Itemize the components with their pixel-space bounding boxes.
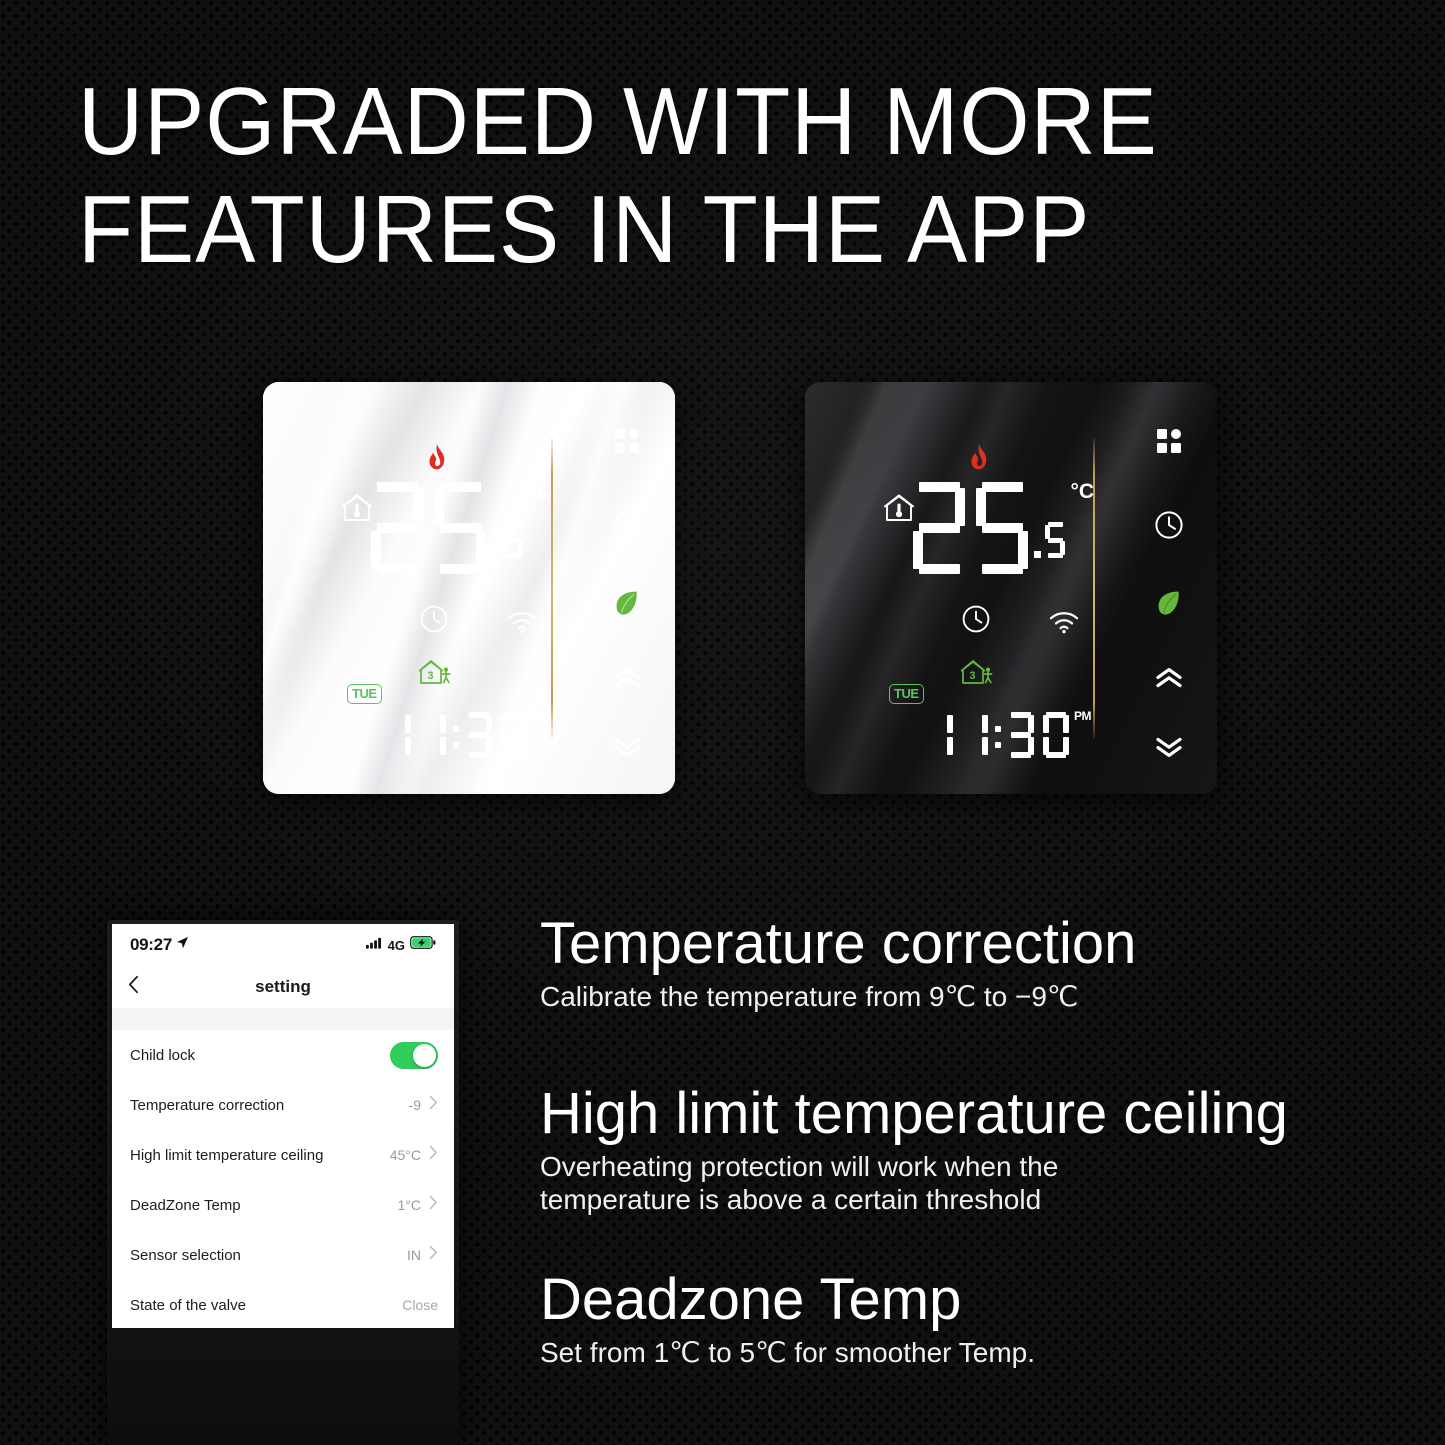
feature-title: Deadzone Temp xyxy=(540,1268,1035,1332)
feature-deadzone-temp: Deadzone Temp Set from 1℃ to 5℃ for smoo… xyxy=(540,1268,1035,1369)
page-title-setting: setting xyxy=(112,977,454,997)
leaf-icon[interactable] xyxy=(1157,590,1181,616)
leaf-icon[interactable] xyxy=(615,590,639,616)
feature-body-line-1: Overheating protection will work when th… xyxy=(540,1150,1288,1183)
phone-screen: 09:27 xyxy=(112,924,454,1328)
decimal-point xyxy=(492,551,499,558)
house-person-number: 3 xyxy=(427,670,433,682)
phone-mockup: 09:27 xyxy=(107,920,459,1445)
row-label: DeadZone Temp xyxy=(130,1197,241,1214)
house-thermometer-icon xyxy=(883,493,915,523)
segment-e xyxy=(1043,737,1049,755)
segment-b xyxy=(521,715,527,733)
list-item[interactable]: DeadZone Temp 1°C xyxy=(112,1180,454,1230)
weekday-badge: TUE xyxy=(347,685,382,703)
poster-canvas: UPGRADED WITH MORE FEATURES IN THE APP xyxy=(0,0,1445,1445)
temp-digit-2 xyxy=(434,482,486,574)
segment-e xyxy=(913,531,923,569)
status-time: 09:27 xyxy=(130,935,172,955)
headline-line-1: UPGRADED WITH MORE xyxy=(78,68,1187,176)
white-touch-rail xyxy=(599,382,655,794)
temp-digit-2 xyxy=(976,482,1028,574)
white-thermostat: °C xyxy=(263,382,675,794)
white-thermostat-face: °C xyxy=(263,382,675,794)
chevron-down-icon[interactable] xyxy=(1154,737,1184,757)
temperature-unit: °C xyxy=(1070,481,1094,502)
segment-d xyxy=(440,564,481,574)
feature-temperature-correction: Temperature correction Calibrate the tem… xyxy=(540,912,1136,1013)
segment-d xyxy=(1046,752,1065,758)
black-touch-rail xyxy=(1141,382,1197,794)
colon-dot-1 xyxy=(995,726,1001,732)
weekday-badge-label: TUE xyxy=(347,684,382,704)
settings-list: Child lock Temperature correction -9 xyxy=(112,1030,454,1328)
temperature-unit: °C xyxy=(528,481,552,502)
segment-f xyxy=(1045,525,1050,539)
grid-icon[interactable] xyxy=(1156,428,1182,454)
segment-a xyxy=(919,482,960,492)
row-label: Sensor selection xyxy=(130,1247,241,1264)
time-digit-3 xyxy=(1008,712,1034,758)
flame-icon xyxy=(968,444,990,474)
clock-icon[interactable] xyxy=(612,510,642,540)
time-meridiem: PM xyxy=(532,710,549,722)
segment-d xyxy=(504,752,523,758)
wifi-icon xyxy=(1048,610,1080,634)
segment-b xyxy=(982,715,988,733)
grid-icon[interactable] xyxy=(614,428,640,454)
nav-bar: setting xyxy=(112,966,454,1008)
status-bar: 09:27 xyxy=(112,924,454,966)
feature-body: Set from 1℃ to 5℃ for smoother Temp. xyxy=(540,1336,1035,1369)
time-digit-4 xyxy=(1043,712,1069,758)
signal-bars-icon xyxy=(366,936,383,954)
flame-icon xyxy=(426,444,448,474)
temp-decimal-dot xyxy=(492,522,499,558)
segment-a xyxy=(506,522,521,527)
time-meridiem: PM xyxy=(1074,710,1091,722)
segment-a xyxy=(1048,522,1063,527)
segment-b xyxy=(947,715,953,733)
back-button[interactable] xyxy=(128,975,139,999)
clock-small-icon xyxy=(419,604,449,634)
chevron-up-icon[interactable] xyxy=(1154,668,1184,688)
child-lock-toggle[interactable] xyxy=(390,1042,438,1069)
house-person-icon: 3 xyxy=(960,658,994,686)
row-value: 1°C xyxy=(398,1197,422,1213)
feature-title: Temperature correction xyxy=(540,912,1136,976)
row-label: High limit temperature ceiling xyxy=(130,1147,323,1164)
list-item[interactable]: Sensor selection IN xyxy=(112,1230,454,1280)
house-person-icon: 3 xyxy=(418,658,452,686)
gold-divider xyxy=(551,438,553,738)
row-label: Temperature correction xyxy=(130,1097,284,1114)
temp-decimal-dot xyxy=(1034,522,1041,558)
segment-d xyxy=(919,564,960,574)
house-thermometer-icon xyxy=(341,493,373,523)
segment-g xyxy=(1048,538,1063,543)
time-digit-1 xyxy=(385,712,411,758)
segment-g xyxy=(982,523,1023,533)
segment-d xyxy=(982,564,1023,574)
chevron-right-icon xyxy=(429,1095,438,1115)
black-temperature-display: °C xyxy=(913,482,1094,574)
segment-d xyxy=(1048,553,1063,558)
battery-charging-icon xyxy=(410,936,436,954)
chevron-right-icon xyxy=(429,1145,438,1165)
segment-f xyxy=(503,525,508,539)
white-temperature-display: °C xyxy=(371,482,552,574)
temp-decimal-digit xyxy=(503,522,523,558)
feature-body-line-2: temperature is above a certain threshold xyxy=(540,1183,1288,1216)
segment-f xyxy=(976,488,986,526)
segment-g xyxy=(1011,732,1030,738)
feature-high-limit-ceiling: High limit temperature ceiling Overheati… xyxy=(540,1082,1288,1216)
gold-divider xyxy=(1093,438,1095,738)
row-value: -9 xyxy=(409,1097,421,1113)
row-value: 45°C xyxy=(390,1147,421,1163)
segment-b xyxy=(440,715,446,733)
weekday-badge-label: TUE xyxy=(889,684,924,704)
black-thermostat: °C xyxy=(805,382,1217,794)
segment-b xyxy=(955,488,965,526)
segment-f xyxy=(434,488,444,526)
segment-d xyxy=(377,564,418,574)
segment-e xyxy=(501,737,507,755)
clock-icon[interactable] xyxy=(1154,510,1184,540)
segment-b xyxy=(405,715,411,733)
segment-e xyxy=(371,531,381,569)
location-arrow-icon xyxy=(176,936,189,954)
time-digit-2 xyxy=(962,712,988,758)
segment-g xyxy=(919,523,960,533)
time-colon xyxy=(453,712,459,758)
weekday-badge: TUE xyxy=(889,685,924,703)
segment-c xyxy=(982,737,988,755)
colon-dot-2 xyxy=(995,742,1001,748)
row-label: State of the valve xyxy=(130,1297,246,1314)
colon-dot-1 xyxy=(453,726,459,732)
segment-c xyxy=(1018,531,1028,569)
segment-b xyxy=(486,715,492,733)
list-item[interactable]: State of the valve Close xyxy=(112,1280,454,1328)
network-label: 4G xyxy=(388,938,405,953)
segment-g xyxy=(377,523,418,533)
section-gap xyxy=(112,1008,454,1030)
segment-a xyxy=(440,482,481,492)
segment-g xyxy=(440,523,481,533)
black-clock-display: PM xyxy=(927,712,1091,758)
temp-digit-1 xyxy=(913,482,965,574)
black-thermostat-face: °C xyxy=(805,382,1217,794)
feature-body: Calibrate the temperature from 9℃ to −9℃ xyxy=(540,980,1136,1013)
list-item[interactable]: Temperature correction -9 xyxy=(112,1080,454,1130)
colon-dot-2 xyxy=(453,742,459,748)
segment-f xyxy=(1043,715,1049,733)
wifi-icon xyxy=(506,610,538,634)
white-clock-display: PM xyxy=(385,712,549,758)
chevron-right-icon xyxy=(429,1245,438,1265)
list-item[interactable]: High limit temperature ceiling 45°C xyxy=(112,1130,454,1180)
time-digit-4 xyxy=(501,712,527,758)
segment-a xyxy=(982,482,1023,492)
temp-decimal-digit xyxy=(1045,522,1065,558)
segment-f xyxy=(501,715,507,733)
segment-a xyxy=(377,482,418,492)
time-digit-1 xyxy=(927,712,953,758)
row-value: IN xyxy=(407,1247,421,1263)
page-title: UPGRADED WITH MORE FEATURES IN THE APP xyxy=(78,68,1187,284)
segment-g xyxy=(506,538,521,543)
row-label: Child lock xyxy=(130,1047,195,1064)
segment-g xyxy=(469,732,488,738)
time-digit-3 xyxy=(466,712,492,758)
segment-c xyxy=(440,737,446,755)
segment-c xyxy=(405,737,411,755)
row-value: Close xyxy=(402,1297,438,1313)
toggle-knob xyxy=(413,1044,436,1067)
segment-d xyxy=(469,752,488,758)
chevron-up-icon[interactable] xyxy=(612,668,642,688)
list-item[interactable]: Child lock xyxy=(112,1030,454,1080)
temp-digit-1 xyxy=(371,482,423,574)
segment-d xyxy=(1011,752,1030,758)
clock-small-icon xyxy=(961,604,991,634)
chevron-right-icon xyxy=(429,1195,438,1215)
segment-b xyxy=(1028,715,1034,733)
segment-b xyxy=(413,488,423,526)
time-colon xyxy=(995,712,1001,758)
house-person-number: 3 xyxy=(969,670,975,682)
chevron-down-icon[interactable] xyxy=(612,737,642,757)
headline-line-2: FEATURES IN THE APP xyxy=(78,176,1187,284)
time-digit-2 xyxy=(420,712,446,758)
segment-c xyxy=(947,737,953,755)
segment-b xyxy=(1063,715,1069,733)
decimal-point xyxy=(1034,551,1041,558)
feature-title: High limit temperature ceiling xyxy=(540,1082,1288,1146)
segment-d xyxy=(506,553,521,558)
segment-c xyxy=(476,531,486,569)
